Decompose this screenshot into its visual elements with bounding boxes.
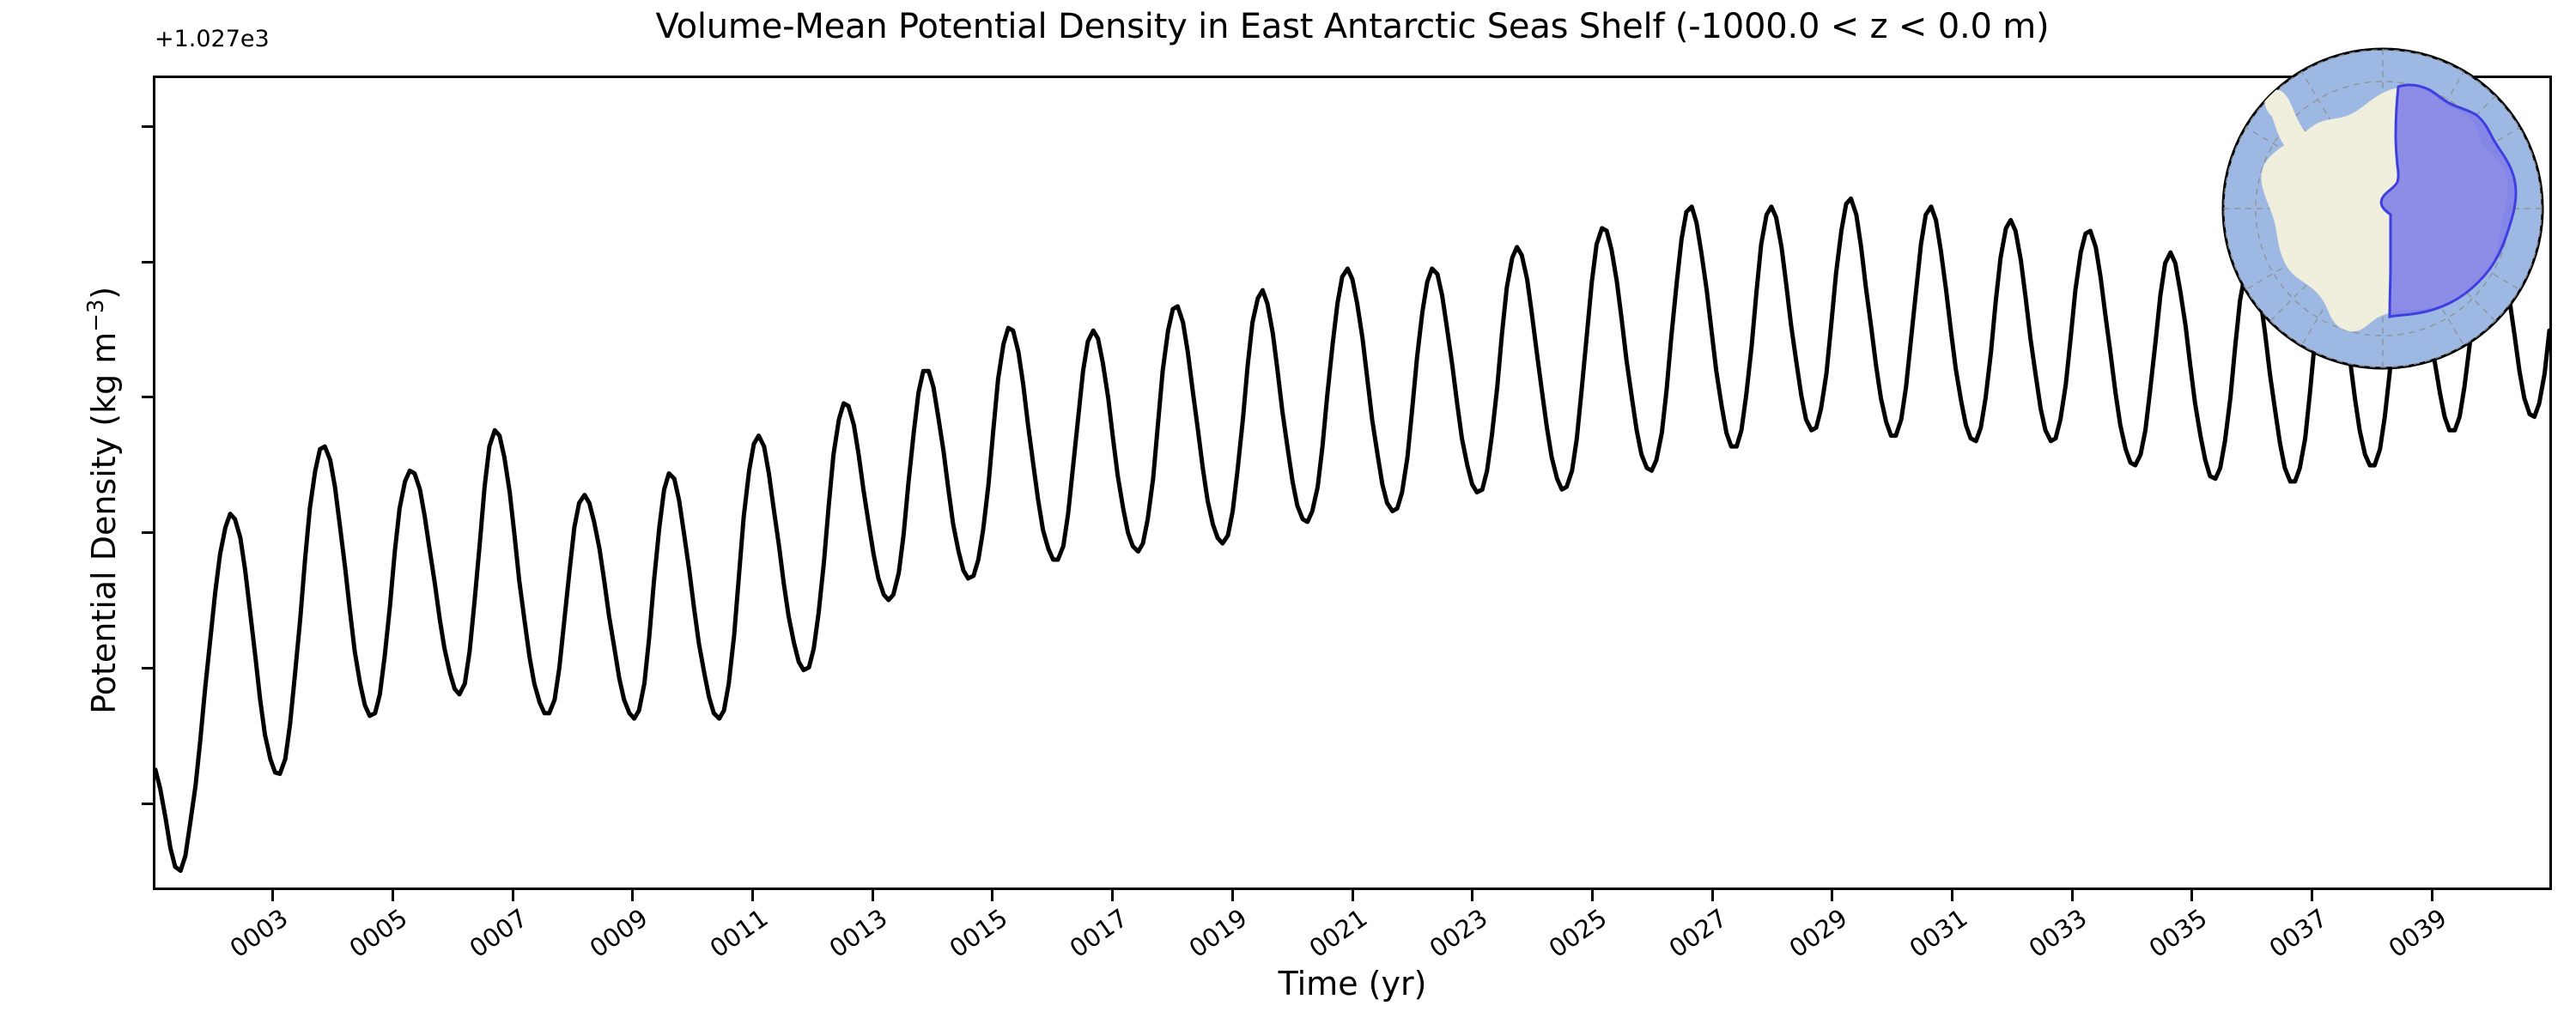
figure-canvas: Volume-Mean Potential Density in East An… <box>0 0 2576 1030</box>
x-tick-label: 0015 <box>932 903 1013 972</box>
x-tick-mark <box>392 890 394 901</box>
x-tick-label: 0021 <box>1291 903 1373 972</box>
series-line-chart <box>155 78 2549 888</box>
x-tick-mark <box>991 890 993 901</box>
x-tick-label: 0007 <box>452 903 533 972</box>
x-tick-mark <box>1352 890 1354 901</box>
y-axis-label: Potential Density (kg m−3) <box>83 114 123 887</box>
x-tick-mark <box>2071 890 2074 901</box>
x-tick-mark <box>512 890 514 901</box>
series-path-potential-density <box>155 198 2549 870</box>
x-tick-mark <box>1471 890 1473 901</box>
x-tick-label: 0025 <box>1531 903 1613 972</box>
x-tick-mark <box>1711 890 1714 901</box>
y-tick-mark <box>142 531 153 534</box>
x-tick-mark <box>271 890 274 901</box>
x-tick-label: 0033 <box>2011 903 2093 972</box>
x-tick-mark <box>1951 890 1953 901</box>
x-tick-mark <box>1591 890 1594 901</box>
x-tick-label: 0027 <box>1651 903 1733 972</box>
x-tick-label: 0035 <box>2131 903 2213 972</box>
x-tick-label: 0031 <box>1891 903 1972 972</box>
chart-title: Volume-Mean Potential Density in East An… <box>153 7 2552 46</box>
y-tick-mark <box>142 261 153 264</box>
x-tick-mark <box>751 890 754 901</box>
x-tick-mark <box>872 890 874 901</box>
x-tick-label: 0017 <box>1051 903 1133 972</box>
x-tick-label: 0011 <box>691 903 773 972</box>
y-tick-mark <box>142 803 153 805</box>
y-tick-mark <box>142 125 153 128</box>
y-axis-offset-label: +1.027e3 <box>155 26 270 52</box>
x-tick-label: 0013 <box>811 903 893 972</box>
x-tick-mark <box>1231 890 1234 901</box>
x-tick-label: 0009 <box>571 903 653 972</box>
x-tick-label: 0003 <box>211 903 293 972</box>
antarctica-inset-map <box>2215 41 2550 376</box>
x-tick-label: 0039 <box>2371 903 2452 972</box>
x-tick-label: 0023 <box>1411 903 1492 972</box>
x-tick-mark <box>1831 890 1833 901</box>
x-tick-mark <box>631 890 634 901</box>
x-tick-label: 0019 <box>1171 903 1253 972</box>
y-tick-mark <box>142 667 153 669</box>
y-tick-mark <box>142 396 153 398</box>
x-tick-label: 0037 <box>2251 903 2332 972</box>
x-tick-mark <box>2190 890 2193 901</box>
antarctica-island-detail <box>2334 141 2353 161</box>
x-tick-mark <box>2431 890 2433 901</box>
x-tick-label: 0005 <box>331 903 413 972</box>
x-tick-mark <box>2311 890 2313 901</box>
x-tick-label: 0029 <box>1771 903 1852 972</box>
x-axis-label: Time (yr) <box>153 965 2552 1003</box>
plot-area <box>153 76 2552 890</box>
x-tick-mark <box>1111 890 1114 901</box>
